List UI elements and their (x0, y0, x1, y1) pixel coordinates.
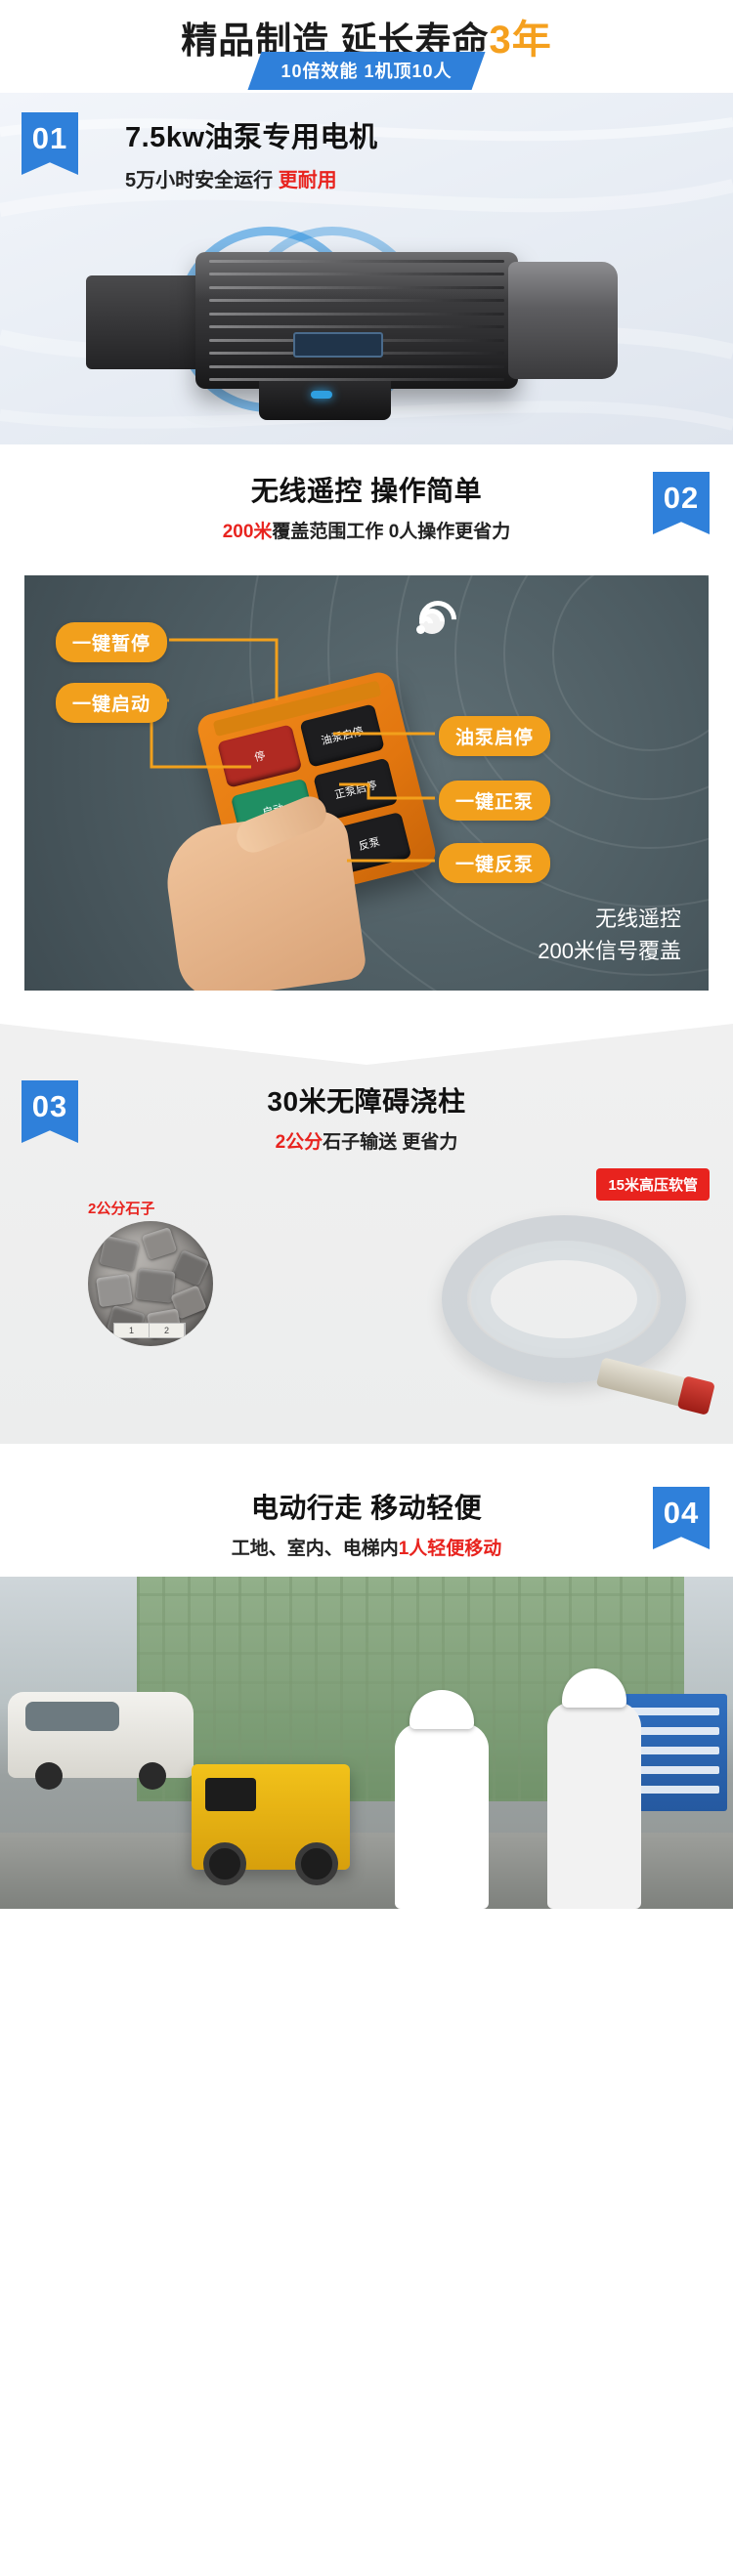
photo-caption-02-line1: 无线遥控 (538, 903, 681, 935)
motor-nameplate (293, 332, 383, 358)
section-02-text: 无线遥控 操作简单 200米覆盖范围工作 0人操作更省力 (0, 470, 733, 543)
product-detail-page: 精品制造 延长寿命3年 10倍效能 1机顶10人 01 7.5kw油泵专用电机 … (0, 0, 733, 2576)
remote-control-photo: 停 油泵启停 启动 正泵启停 备用 反泵 一键暂停 一键启动 油泵启 (24, 575, 709, 991)
section-04: 电动行走 移动轻便 工地、室内、电梯内1人轻便移动 04 (0, 1487, 733, 1909)
section-02-header: 无线遥控 操作简单 200米覆盖范围工作 0人操作更省力 02 (0, 470, 733, 564)
photo-caption-02: 无线遥控 200米信号覆盖 (538, 903, 681, 967)
callout-start: 一键启动 (56, 683, 167, 723)
section-01-header: 01 7.5kw油泵专用电机 5万小时安全运行 更耐用 (0, 112, 733, 192)
photo-caption-02-line2: 200米信号覆盖 (538, 935, 681, 967)
section-04-subtitle-plain: 工地、室内、电梯内 (232, 1539, 399, 1559)
motor-cooling-fins (209, 260, 504, 381)
section-04-text: 电动行走 移动轻便 工地、室内、电梯内1人轻便移动 (0, 1487, 733, 1560)
chevron-divider-decoration (0, 1024, 733, 1065)
section-02-subtitle: 200米覆盖范围工作 0人操作更省力 (0, 517, 733, 543)
ruler-mark-1: 1 (114, 1324, 150, 1337)
section-01-title: 7.5kw油泵专用电机 (125, 114, 378, 155)
page-title-years: 3年 (490, 19, 552, 62)
hose-coupler (596, 1357, 691, 1407)
motor-base-mount (259, 381, 391, 420)
hose-length-tag: 15米高压软管 (596, 1168, 710, 1201)
section-03-text: 30米无障碍浇柱 2公分石子输送 更省力 (0, 1080, 733, 1154)
motor-indicator-light-icon (311, 391, 332, 399)
section-03-subtitle-accent: 2公分 (276, 1132, 323, 1153)
worker-front (395, 1723, 489, 1909)
motor-gearbox (86, 275, 203, 369)
motor-end-cap (508, 262, 618, 379)
section-01-badge-wrap: 01 (22, 112, 78, 175)
section-01: 01 7.5kw油泵专用电机 5万小时安全运行 更耐用 (0, 93, 733, 444)
section-03-subtitle: 2公分石子输送 更省力 (0, 1127, 733, 1154)
section-02: 无线遥控 操作简单 200米覆盖范围工作 0人操作更省力 02 (0, 444, 733, 991)
jobsite-photo (0, 1577, 733, 1909)
section-02-title: 无线遥控 操作简单 (0, 470, 733, 509)
section-04-header: 电动行走 移动轻便 工地、室内、电梯内1人轻便移动 04 (0, 1487, 733, 1577)
gravel-photo: 1 2 (88, 1221, 213, 1346)
concrete-pump-machine (192, 1764, 350, 1870)
hero-header: 精品制造 延长寿命3年 10倍效能 1机顶10人 (0, 0, 733, 93)
section-04-title: 电动行走 移动轻便 (0, 1487, 733, 1526)
callout-pump-toggle: 油泵启停 (439, 716, 550, 756)
hero-banner: 10倍效能 1机顶10人 (247, 52, 485, 90)
section-04-subtitle: 工地、室内、电梯内1人轻便移动 (0, 1534, 733, 1560)
white-van (8, 1692, 194, 1778)
section-badge-04: 04 (653, 1487, 710, 1549)
callout-forward-pump: 一键正泵 (439, 781, 550, 821)
section-badge-01: 01 (22, 112, 78, 175)
section-02-badge-wrap: 02 (653, 472, 710, 534)
gravel-size-ruler: 1 2 (113, 1323, 186, 1338)
section-03-subtitle-plain: 石子输送 更省力 (323, 1132, 457, 1153)
section-02-subtitle-plain: 覆盖范围工作 0人操作更省力 (272, 522, 510, 542)
section-02-subtitle-accent: 200米 (223, 522, 273, 542)
section-03-title: 30米无障碍浇柱 (0, 1080, 733, 1119)
callout-reverse-pump: 一键反泵 (439, 843, 550, 883)
motor-housing (195, 252, 518, 389)
section-03: 03 30米无障碍浇柱 2公分石子输送 更省力 15米高压软管 2公分石子 1 … (0, 1024, 733, 1444)
callout-pause: 一键暂停 (56, 622, 167, 662)
ruler-mark-2: 2 (150, 1324, 185, 1337)
worker-right (547, 1702, 641, 1909)
hose-coil-inner (471, 1241, 657, 1358)
section-badge-02: 02 (653, 472, 710, 534)
section-04-badge-wrap: 04 (653, 1487, 710, 1549)
motor-product-image (0, 186, 733, 444)
gravel-label: 2公分石子 (88, 1198, 154, 1218)
section-01-text: 7.5kw油泵专用电机 5万小时安全运行 更耐用 (125, 114, 378, 192)
section-04-subtitle-accent: 1人轻便移动 (399, 1539, 502, 1559)
